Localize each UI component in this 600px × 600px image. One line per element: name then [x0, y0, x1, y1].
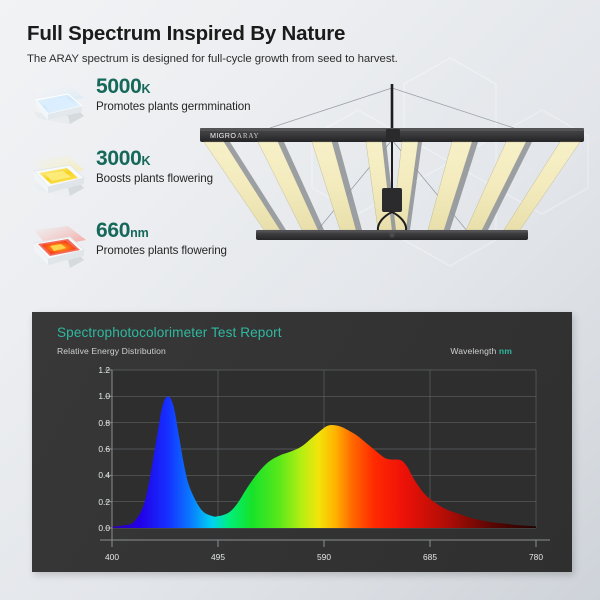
feature-item-660nm: 660nm Promotes plants flowering — [24, 220, 204, 291]
y-axis-tick-labels: 0.00.20.40.60.81.01.2 — [82, 370, 110, 528]
feature-item-3000k: 3000K Boosts plants flowering — [24, 148, 204, 219]
driver-box — [382, 188, 402, 212]
y-axis-tick: 0.4 — [98, 470, 110, 480]
chart-subtitle: Relative Energy Distribution — [57, 346, 166, 356]
y-axis-tick: 0.8 — [98, 418, 110, 428]
chart-subheader-row: Relative Energy Distribution Wavelength … — [57, 346, 550, 356]
y-axis-tick: 0.6 — [98, 444, 110, 454]
y-axis-tick: 1.2 — [98, 365, 110, 375]
brand-logo: MIGRO — [210, 131, 236, 140]
spectrum-plot — [32, 367, 572, 572]
feature-item-5000k: 5000K Promotes plants germmination — [24, 76, 204, 147]
y-axis-tick: 0.2 — [98, 497, 110, 507]
y-axis-tick: 1.0 — [98, 391, 110, 401]
x-axis-tick: 495 — [211, 552, 225, 562]
page-subtitle: The ARAY spectrum is designed for full-c… — [27, 53, 572, 65]
x-axis-tick: 780 — [529, 552, 543, 562]
y-axis-tick: 0.0 — [98, 523, 110, 533]
page-title: Full Spectrum Inspired By Nature — [27, 22, 572, 46]
led-chip-3000k-icon — [28, 154, 90, 206]
chart-header: Spectrophotocolorimeter Test Report Rela… — [57, 326, 550, 356]
x-axis-tick-labels: 400495590685780 — [32, 552, 572, 566]
feature-list: 5000K Promotes plants germmination — [24, 76, 204, 291]
plot-area: 0.00.20.40.60.81.01.2 400495590685780 — [32, 367, 572, 572]
led-chip-660nm-icon — [28, 226, 90, 278]
product-image: MIGRO ARAY — [196, 84, 586, 284]
x-axis-tick: 400 — [105, 552, 119, 562]
led-chip-5000k-icon — [28, 82, 90, 134]
spectrum-chart-panel: Spectrophotocolorimeter Test Report Rela… — [32, 312, 572, 572]
chart-axis-note: Wavelength nm — [450, 346, 512, 356]
model-logo: ARAY — [237, 132, 259, 140]
hero-header: Full Spectrum Inspired By Nature The ARA… — [27, 22, 572, 65]
x-axis-tick: 590 — [317, 552, 331, 562]
chart-title: Spectrophotocolorimeter Test Report — [57, 326, 550, 341]
x-axis-tick: 685 — [423, 552, 437, 562]
